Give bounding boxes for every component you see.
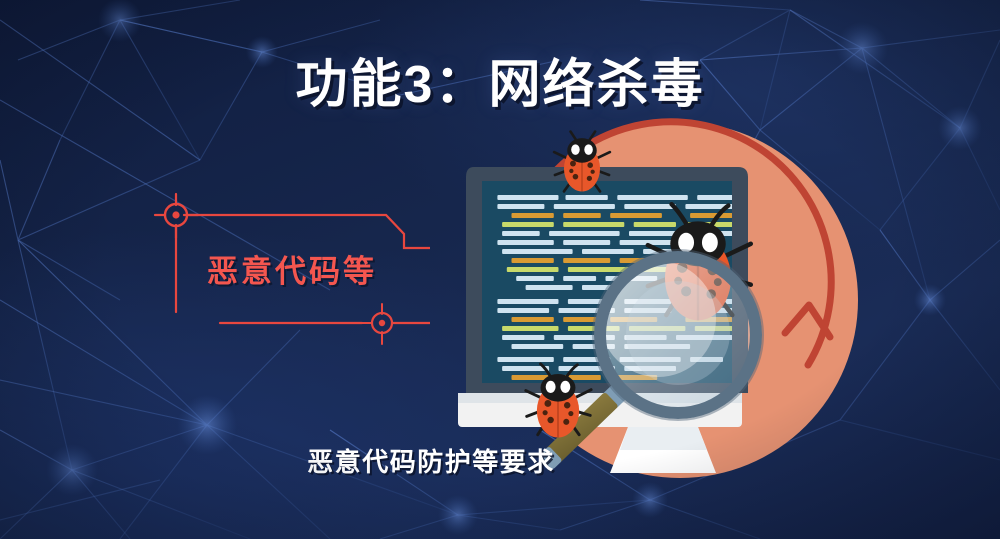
slide-canvas: 功能3：网络杀毒	[0, 0, 1000, 539]
target-marker-bottom-right	[362, 304, 402, 344]
caption-text: 恶意代码防护等要求	[300, 442, 562, 479]
callout-label: 恶意代码等	[207, 246, 377, 291]
target-marker-top-left	[155, 194, 198, 238]
